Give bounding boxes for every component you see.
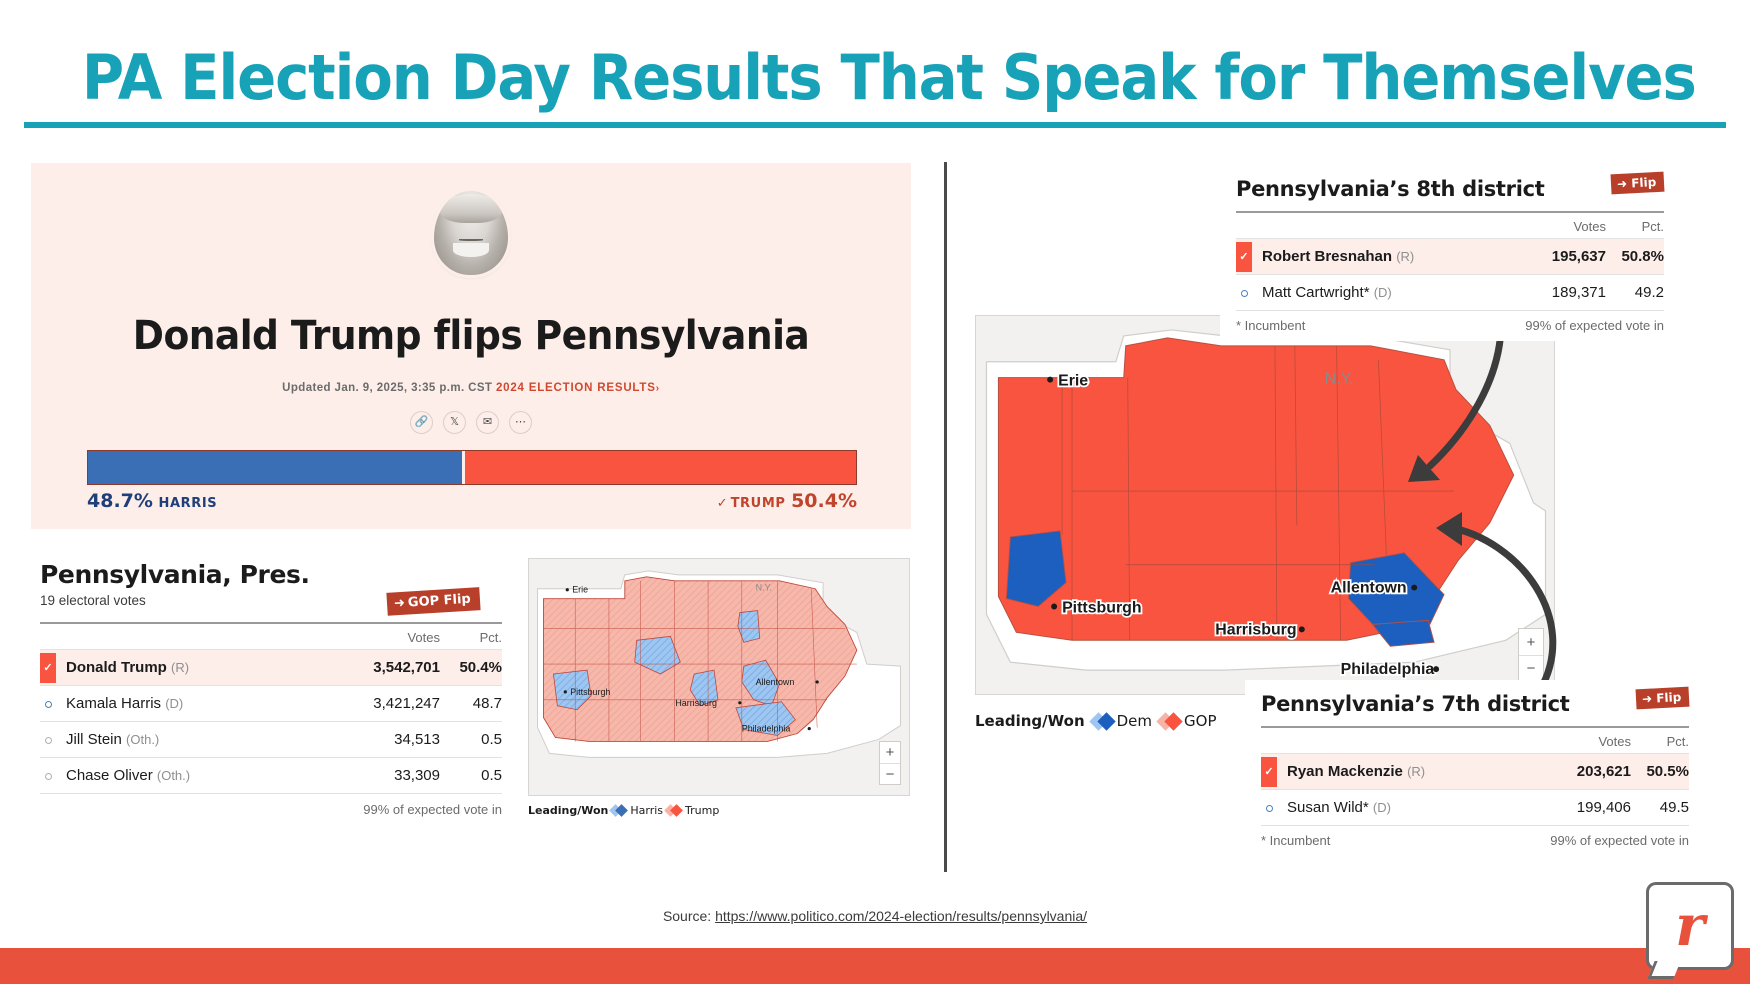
table-row[interactable]: Chase Oliver (Oth.) 33,309 0.5 [40,758,502,794]
vote-count: 199,406 [1534,790,1631,826]
row-marker: ✓ [1261,754,1287,790]
district-7-flip-badge: ➜ Flip [1635,687,1689,710]
trump-portrait-icon [434,191,508,275]
col-votes: Votes [1534,728,1631,754]
table-header-row: Votes Pct. [40,624,502,650]
table-header-row: Votes Pct. [1261,728,1689,754]
hero-headline: Donald Trump flips Pennsylvania [57,313,884,359]
legend-item-trump: Trump [669,804,719,817]
map-legend-small: Leading/Won Harris Trump [528,804,719,817]
expected-vote-note: 99% of expected vote in [1550,833,1689,848]
party-label: (R) [171,660,189,675]
title-underline [24,122,1726,128]
vote-pct: 50.4% [440,650,502,686]
source-label: Source: [663,908,715,924]
legend-title: Leading/Won [975,712,1085,730]
state-results-panel: Pennsylvania, Pres. 19 electoral votes ➜… [40,560,502,817]
flip-arrow-icon: ➜ [394,596,406,612]
brand-logo: r [1646,882,1734,970]
district-8-card: Pennsylvania’s 8th district ➜ Flip Votes… [1220,165,1680,341]
legend-item-dem: Dem [1095,712,1152,730]
table-row[interactable]: Jill Stein (Oth.) 34,513 0.5 [40,722,502,758]
legend-item-gop: GOP [1162,712,1216,730]
svg-text:Pittsburgh: Pittsburgh [1062,599,1142,616]
row-marker [40,722,66,758]
col-pct: Pct. [1631,728,1689,754]
table-row[interactable]: Kamala Harris (D) 3,421,247 48.7 [40,686,502,722]
dem-diamond-icon [614,806,626,815]
row-marker [40,758,66,794]
candidate-name: Jill Stein (Oth.) [66,722,309,758]
party-label: (Oth.) [157,768,190,783]
svg-text:Harrisburg: Harrisburg [675,698,717,708]
row-marker: ✓ [40,650,66,686]
svg-text:N.Y.: N.Y. [756,583,772,593]
zoom-in-button[interactable]: + [880,742,900,763]
candidate-name: Chase Oliver (Oth.) [66,758,309,794]
map-zoom-controls-big[interactable]: + − [1518,628,1544,682]
trump-bar-label: ✓TRUMP 50.4% [717,490,857,512]
party-label: (D) [1374,285,1392,300]
flip-arrow-icon: ➜ [1641,692,1652,707]
logo-letter: r [1675,898,1705,954]
email-icon[interactable]: ✉ [476,411,499,434]
district-7-footer: * Incumbent 99% of expected vote in [1261,825,1689,848]
vote-count: 203,621 [1534,754,1631,790]
vote-count: 3,421,247 [309,686,440,722]
gop-diamond-icon [1162,715,1180,728]
vote-bar-labels: 48.7% HARRIS ✓TRUMP 50.4% [87,490,857,512]
candidate-name: Robert Bresnahan (R) [1262,239,1516,275]
state-results-footer: 99% of expected vote in [40,793,502,817]
map-zoom-controls-small[interactable]: + − [879,741,901,785]
party-label: (R) [1407,764,1425,779]
legend-item-harris: Harris [614,804,663,817]
winner-check-icon: ✓ [40,653,56,683]
col-votes: Votes [1516,213,1606,239]
vote-pct: 49.2 [1606,275,1664,311]
district-map-svg: Erie Pittsburgh Harrisburg Allentown Phi… [976,316,1554,694]
expected-vote-note: 99% of expected vote in [1525,318,1664,333]
vote-count: 34,513 [309,722,440,758]
page-title: PA Election Day Results That Speak for T… [82,45,1672,110]
zoom-in-button[interactable]: + [1519,629,1543,655]
svg-text:Pittsburgh: Pittsburgh [570,687,610,697]
source-line: Source: https://www.politico.com/2024-el… [0,908,1750,924]
table-row[interactable]: ✓ Robert Bresnahan (R) 195,637 50.8% [1236,239,1664,275]
harris-bar-label: 48.7% HARRIS [87,490,217,512]
row-marker [1236,275,1262,311]
state-results-table: Votes Pct. ✓ Donald Trump (R) 3,542,701 … [40,624,502,793]
check-icon: ✓ [717,496,728,511]
candidate-name: Matt Cartwright* (D) [1262,275,1516,311]
district-7-table: Votes Pct. ✓ Ryan Mackenzie (R) 203,621 … [1261,728,1689,825]
party-label: (Oth.) [126,732,159,747]
svg-text:Philadelphia: Philadelphia [742,724,791,734]
district-7-title: Pennsylvania’s 7th district [1261,692,1689,716]
col-candidate [66,624,309,650]
pennsylvania-congressional-districts-map[interactable]: Erie Pittsburgh Harrisburg Allentown Phi… [975,315,1555,695]
vote-count: 189,371 [1516,275,1606,311]
vote-pct: 48.7 [440,686,502,722]
table-row[interactable]: ✓ Ryan Mackenzie (R) 203,621 50.5% [1261,754,1689,790]
dem-dot-icon [1266,805,1273,812]
district-8-flip-badge: ➜ Flip [1610,172,1664,195]
district-7-card: Pennsylvania’s 7th district ➜ Flip Votes… [1245,680,1705,856]
col-pct: Pct. [1606,213,1664,239]
zoom-out-button[interactable]: − [880,763,900,784]
row-marker: ✓ [1236,239,1262,275]
dem-dot-icon [1241,290,1248,297]
winner-check-icon: ✓ [1261,757,1277,787]
flip-arrow-icon: ➜ [1616,177,1627,192]
vote-pct: 0.5 [440,722,502,758]
x-twitter-icon[interactable]: 𝕏 [443,411,466,434]
more-options-icon[interactable]: ⋯ [509,411,532,434]
party-label: (D) [165,696,183,711]
vote-count: 33,309 [309,758,440,794]
vote-pct: 50.8% [1606,239,1664,275]
vertical-divider [944,162,947,872]
col-pct: Pct. [440,624,502,650]
statewide-vote-bar [87,450,857,485]
district-8-footer: * Incumbent 99% of expected vote in [1236,310,1664,333]
vote-bar-trump-segment [465,451,856,484]
candidate-name: Donald Trump (R) [66,650,309,686]
svg-text:Erie: Erie [1058,373,1088,390]
county-map-svg: Erie Pittsburgh Harrisburg Allentown Phi… [529,559,909,795]
vote-pct: 49.5 [1631,790,1689,826]
vote-count: 195,637 [1516,239,1606,275]
vote-count: 3,542,701 [309,650,440,686]
vote-pct: 0.5 [440,758,502,794]
pennsylvania-county-results-map[interactable]: Erie Pittsburgh Harrisburg Allentown Phi… [528,558,910,796]
row-marker [1261,790,1287,826]
svg-text:Harrisburg: Harrisburg [1215,621,1296,638]
vote-pct: 50.5% [1631,754,1689,790]
zoom-out-button[interactable]: − [1519,655,1543,681]
caret-right-icon: › [656,383,660,394]
map-legend-big: Leading/Won Dem GOP [975,712,1217,730]
table-row[interactable]: ✓ Donald Trump (R) 3,542,701 50.4% [40,650,502,686]
hero-card: Donald Trump flips Pennsylvania Updated … [31,163,911,529]
gop-flip-badge: ➜GOP Flip [387,587,481,616]
updated-timestamp: Updated Jan. 9, 2025, 3:35 p.m. CST [282,382,492,394]
gop-diamond-icon [669,806,681,815]
share-row: 🔗 𝕏 ✉ ⋯ [31,411,911,434]
hero-meta: Updated Jan. 9, 2025, 3:35 p.m. CST 2024… [31,382,911,394]
candidate-name: Ryan Mackenzie (R) [1287,754,1534,790]
slide-root: PA Election Day Results That Speak for T… [0,0,1750,984]
state-results-title: Pennsylvania, Pres. [40,560,502,589]
source-url-link[interactable]: https://www.politico.com/2024-election/r… [715,908,1087,924]
election-results-link[interactable]: 2024 ELECTION RESULTS› [496,382,660,394]
vote-bar-harris-segment [88,451,465,484]
row-marker [40,686,66,722]
svg-text:Philadelphia: Philadelphia [1341,661,1435,678]
table-row[interactable]: Matt Cartwright* (D) 189,371 49.2 [1236,275,1664,311]
svg-text:Allentown: Allentown [756,677,795,687]
party-label: (R) [1396,249,1414,264]
svg-text:Erie: Erie [572,585,588,595]
district-8-table: Votes Pct. ✓ Robert Bresnahan (R) 195,63… [1236,213,1664,310]
party-label: (D) [1373,800,1391,815]
svg-text:N.Y.: N.Y. [1325,371,1354,388]
table-row[interactable]: Susan Wild* (D) 199,406 49.5 [1261,790,1689,826]
svg-text:Allentown: Allentown [1331,580,1407,597]
district-8-title: Pennsylvania’s 8th district [1236,177,1664,201]
candidate-name: Susan Wild* (D) [1287,790,1534,826]
other-dot-icon [45,773,52,780]
other-dot-icon [45,737,52,744]
table-header-row: Votes Pct. [1236,213,1664,239]
legend-title: Leading/Won [528,804,608,817]
dem-dot-icon [45,701,52,708]
incumbent-note: * Incumbent [1261,833,1330,848]
candidate-name: Kamala Harris (D) [66,686,309,722]
dem-diamond-icon [1095,715,1113,728]
link-icon[interactable]: 🔗 [410,411,433,434]
col-votes: Votes [309,624,440,650]
incumbent-note: * Incumbent [1236,318,1305,333]
footer-bar [0,948,1750,984]
winner-check-icon: ✓ [1236,242,1252,272]
